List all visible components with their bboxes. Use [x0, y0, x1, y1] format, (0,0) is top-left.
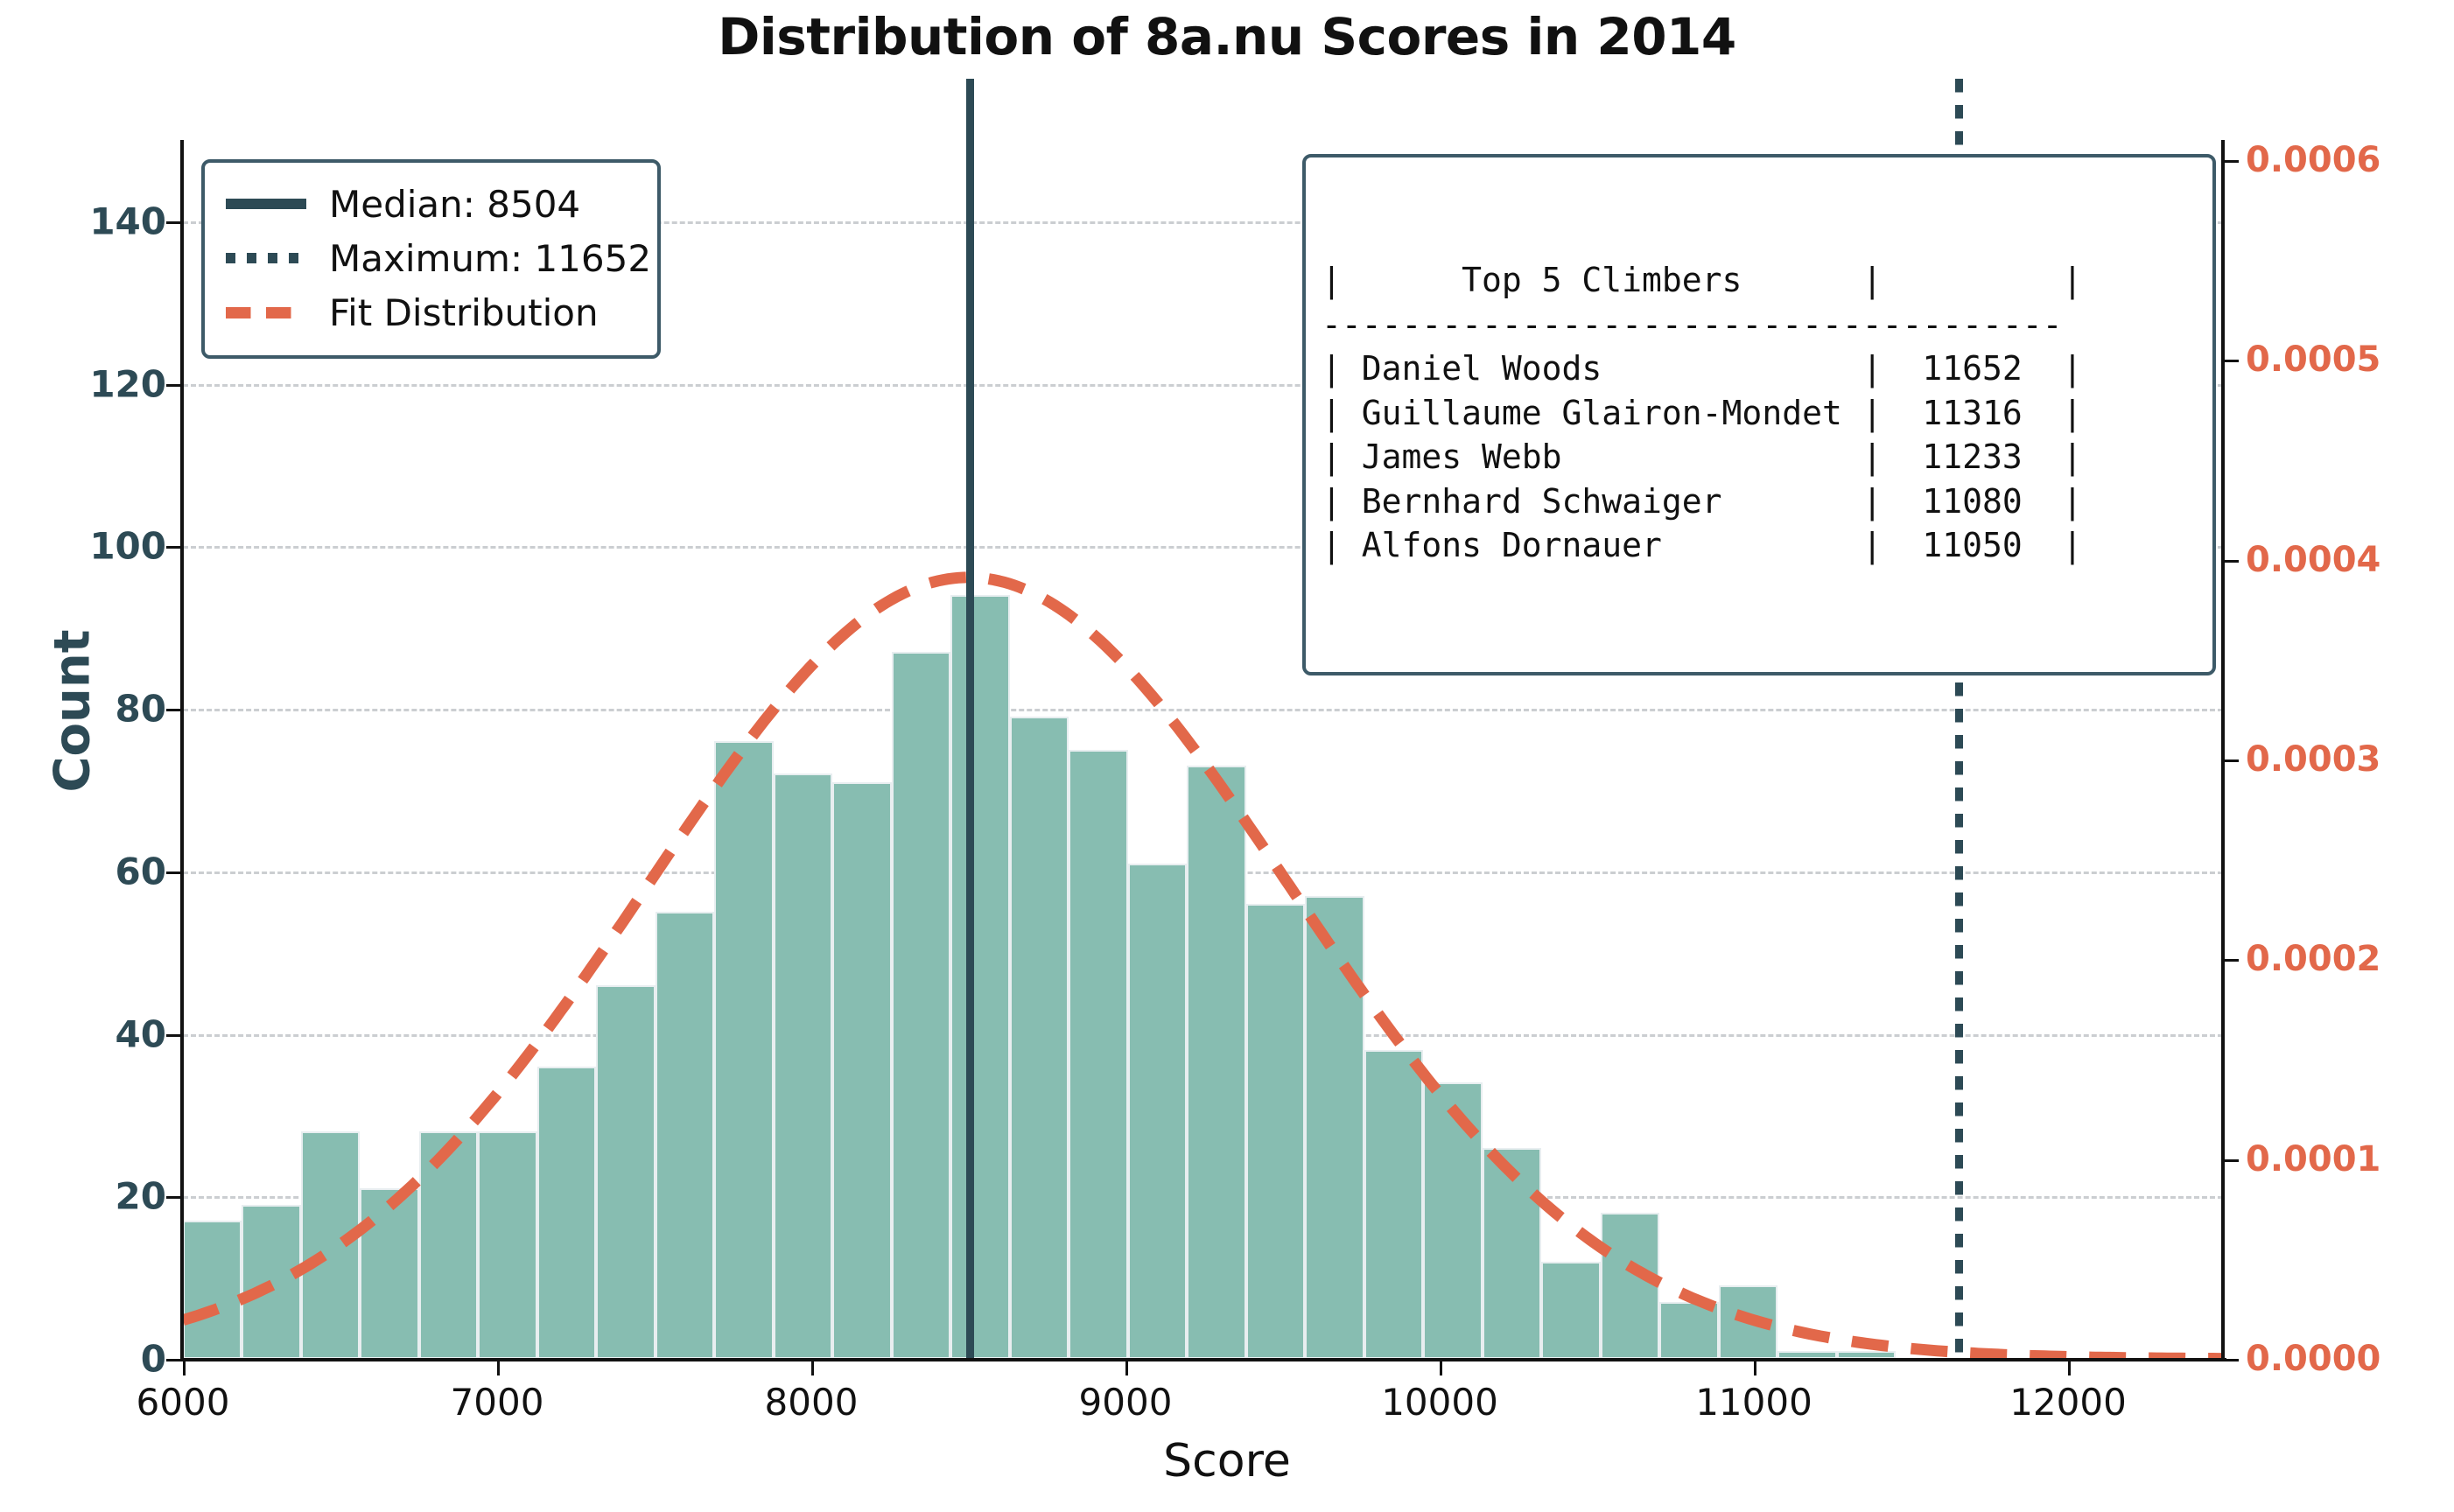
- y-tick-right: [2223, 160, 2239, 163]
- x-tick: [811, 1361, 814, 1375]
- maximum-line-swatch-icon: [226, 253, 306, 263]
- y-tick-label-left: 0: [141, 1338, 166, 1381]
- y-tick-left: [166, 546, 182, 549]
- y-tick-left: [166, 1196, 182, 1199]
- y-tick-label-right: 0.0005: [2246, 339, 2380, 380]
- y-tick-label-left: 60: [116, 850, 166, 892]
- x-tick-label: 9000: [1079, 1381, 1173, 1424]
- x-tick-label: 11000: [1695, 1381, 1812, 1424]
- x-tick: [1125, 1361, 1128, 1375]
- y-tick-left: [166, 1034, 182, 1037]
- y-tick-label-left: 20: [116, 1175, 166, 1218]
- y-tick-label-right: 0.0003: [2246, 739, 2380, 780]
- y-tick-label-right: 0.0004: [2246, 540, 2380, 580]
- median-line-swatch-icon: [226, 199, 306, 209]
- y-tick-right: [2223, 360, 2239, 362]
- median-line: [966, 79, 974, 1359]
- y-axis-left-title: Count: [45, 629, 102, 792]
- axis-spine-left: [180, 140, 184, 1361]
- legend-item-fit[interactable]: Fit Distribution: [205, 285, 657, 339]
- y-tick-label-left: 80: [116, 688, 166, 731]
- y-tick-label-left: 40: [116, 1012, 166, 1055]
- x-axis-title: Score: [0, 1435, 2454, 1487]
- chart-title: Distribution of 8a.nu Scores in 2014: [0, 7, 2454, 66]
- y-tick-left: [166, 709, 182, 711]
- fit-curve-swatch-icon: [226, 307, 306, 318]
- y-tick-label-right: 0.0000: [2246, 1339, 2380, 1379]
- y-tick-label-right: 0.0001: [2246, 1139, 2380, 1179]
- legend-item-median[interactable]: Median: 8504: [205, 177, 657, 231]
- y-tick-right: [2223, 1159, 2239, 1162]
- chart-legend[interactable]: Median: 8504 Maximum: 11652 Fit Distribu…: [201, 159, 661, 359]
- y-tick-label-right: 0.0002: [2246, 939, 2380, 979]
- x-tick-label: 7000: [451, 1381, 544, 1424]
- legend-label-median: Median: 8504: [329, 183, 580, 226]
- x-tick: [497, 1361, 500, 1375]
- x-tick-label: 10000: [1381, 1381, 1498, 1424]
- legend-label-fit: Fit Distribution: [329, 291, 599, 334]
- y-tick-left: [166, 1359, 182, 1361]
- y-tick-label-left: 140: [89, 199, 166, 242]
- x-tick-label: 6000: [137, 1381, 230, 1424]
- y-tick-right: [2223, 759, 2239, 762]
- x-tick: [1440, 1361, 1442, 1375]
- x-tick: [2068, 1361, 2071, 1375]
- axis-spine-bottom: [180, 1358, 2226, 1361]
- y-tick-label-left: 100: [89, 525, 166, 568]
- legend-item-maximum[interactable]: Maximum: 11652: [205, 231, 657, 285]
- legend-label-maximum: Maximum: 11652: [329, 237, 651, 280]
- y-tick-right: [2223, 1359, 2239, 1361]
- y-tick-right: [2223, 959, 2239, 962]
- axis-spine-right: [2221, 140, 2225, 1361]
- y-tick-left: [166, 221, 182, 224]
- x-tick: [1754, 1361, 1756, 1375]
- y-tick-label-left: 120: [89, 362, 166, 405]
- top-climbers-text: | Top 5 Climbers | | -------------------…: [1322, 258, 2197, 568]
- top-climbers-annotation: | Top 5 Climbers | | -------------------…: [1302, 154, 2216, 675]
- x-tick-label: 12000: [2009, 1381, 2127, 1424]
- y-tick-left: [166, 384, 182, 387]
- y-tick-right: [2223, 560, 2239, 563]
- x-tick-label: 8000: [765, 1381, 859, 1424]
- y-tick-label-right: 0.0006: [2246, 140, 2380, 180]
- figure-canvas: Distribution of 8a.nu Scores in 2014 600…: [0, 0, 2454, 1512]
- y-tick-left: [166, 871, 182, 874]
- x-tick: [183, 1361, 186, 1375]
